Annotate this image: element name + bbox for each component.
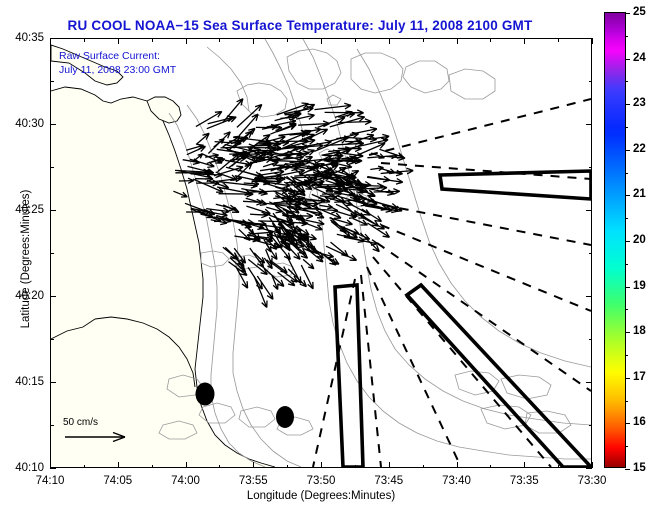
annotation-line-2: July 11, 2008 23:00 GMT xyxy=(59,63,176,77)
sst-map-figure: RU COOL NOAA−15 Sea Surface Temperature:… xyxy=(0,0,651,518)
colorbar-tick-minor xyxy=(625,401,628,402)
colorbar-tick xyxy=(625,195,630,196)
bathymetry-contour-layer xyxy=(159,39,591,467)
x-tick-label: 73:30 xyxy=(578,475,607,487)
y-tick-right xyxy=(586,468,592,469)
colorbar-tick-minor xyxy=(625,81,628,82)
colorbar-tick xyxy=(625,469,630,470)
surface-current-vector-layer xyxy=(173,99,413,308)
colorbar xyxy=(604,12,626,468)
colorbar-tick xyxy=(625,59,630,60)
x-axis-title: Longitude (Degrees:Minutes) xyxy=(50,490,592,502)
colorbar-tick-label: 24 xyxy=(633,52,646,64)
x-tick xyxy=(592,462,593,468)
y-tick-label: 40:10 xyxy=(0,462,44,474)
annotation-line-1: Raw Surface Current: xyxy=(59,49,176,63)
colorbar-tick-label: 20 xyxy=(633,234,646,246)
colorbar-gradient xyxy=(605,13,625,467)
colorbar-tick-minor xyxy=(625,218,628,219)
station-marker[interactable] xyxy=(276,406,294,428)
map-graphics xyxy=(51,39,591,467)
map-plot-area[interactable]: Raw Surface Current: July 11, 2008 23:00… xyxy=(50,38,592,468)
colorbar-tick-minor xyxy=(625,264,628,265)
colorbar-tick-label: 18 xyxy=(633,325,646,337)
colorbar-tick-label: 16 xyxy=(633,416,646,428)
x-tick-label: 73:55 xyxy=(239,475,268,487)
vector-scale-bar: 50 cm/s xyxy=(63,417,153,449)
station-marker[interactable] xyxy=(196,383,215,406)
colorbar-tick-minor xyxy=(625,446,628,447)
colorbar-tick xyxy=(625,150,630,151)
colorbar-tick-label: 15 xyxy=(633,462,646,474)
colorbar-tick xyxy=(625,423,630,424)
x-tick-label: 74:10 xyxy=(36,475,65,487)
current-annotation: Raw Surface Current: July 11, 2008 23:00… xyxy=(59,49,176,77)
colorbar-tick-minor xyxy=(625,173,628,174)
colorbar-tick xyxy=(625,13,630,14)
y-tick-label: 40:30 xyxy=(0,118,44,130)
colorbar-tick-minor xyxy=(625,355,628,356)
x-tick-label: 73:45 xyxy=(374,475,403,487)
colorbar-tick-label: 19 xyxy=(633,280,646,292)
y-tick-label: 40:15 xyxy=(0,376,44,388)
x-tick-label: 74:00 xyxy=(171,475,200,487)
x-tick-label: 73:35 xyxy=(510,475,539,487)
colorbar-tick-label: 22 xyxy=(633,143,646,155)
map-canvas: Raw Surface Current: July 11, 2008 23:00… xyxy=(51,39,591,467)
colorbar-tick xyxy=(625,287,630,288)
scale-bar-label: 50 cm/s xyxy=(63,417,153,428)
colorbar-tick-label: 17 xyxy=(633,371,646,383)
colorbar-tick-minor xyxy=(625,127,628,128)
colorbar-tick-label: 21 xyxy=(633,188,646,200)
y-tick xyxy=(50,468,56,469)
colorbar-tick xyxy=(625,378,630,379)
figure-title: RU COOL NOAA−15 Sea Surface Temperature:… xyxy=(0,18,600,33)
colorbar-tick-minor xyxy=(625,36,628,37)
colorbar-tick-minor xyxy=(625,309,628,310)
x-tick-label: 73:50 xyxy=(307,475,336,487)
colorbar-tick-label: 23 xyxy=(633,97,646,109)
x-tick-top xyxy=(592,38,593,44)
y-axis-title: Latitude (Degrees:Minutes) xyxy=(20,149,32,369)
colorbar-tick xyxy=(625,241,630,242)
colorbar-tick xyxy=(625,104,630,105)
scale-bar-arrow-icon xyxy=(63,430,137,444)
x-tick-label: 73:40 xyxy=(442,475,471,487)
colorbar-tick xyxy=(625,332,630,333)
y-tick-label: 40:35 xyxy=(0,32,44,44)
x-tick-label: 74:05 xyxy=(103,475,132,487)
survey-corridor-layer xyxy=(335,171,591,467)
colorbar-tick-label: 25 xyxy=(633,6,646,18)
